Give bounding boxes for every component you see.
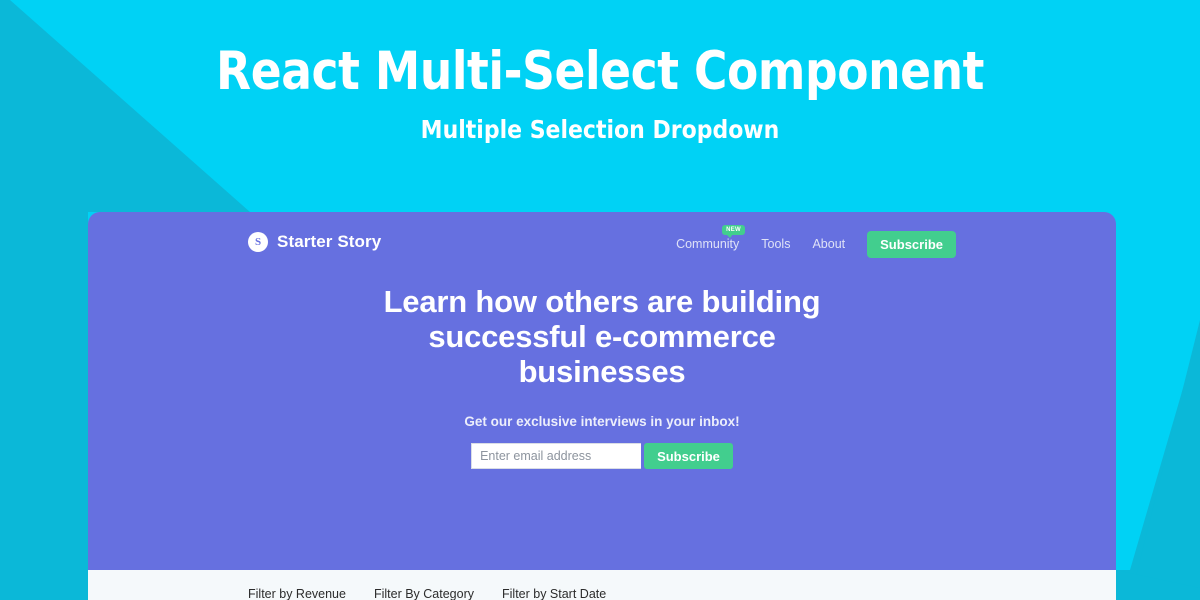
filter-label-category[interactable]: Filter By Category (374, 587, 474, 600)
hero-headline: Learn how others are building successful… (342, 284, 862, 389)
newsletter-form: Subscribe (88, 443, 1116, 469)
nav-subscribe-button[interactable]: Subscribe (867, 231, 956, 258)
new-badge: NEW (722, 225, 745, 235)
starter-story-logo-icon: S (248, 232, 268, 252)
hero-card: S Starter Story Community NEW Tools Abou… (88, 212, 1116, 570)
newsletter-subscribe-button[interactable]: Subscribe (644, 443, 733, 469)
brand-name: Starter Story (277, 232, 381, 252)
page-banner: React Multi-Select Component Multiple Se… (0, 0, 1200, 212)
nav-item-tools[interactable]: Tools (761, 237, 790, 251)
nav-item-community[interactable]: Community NEW (676, 237, 739, 251)
brand[interactable]: S Starter Story (248, 232, 381, 252)
nav-links: Community NEW Tools About Subscribe (676, 231, 956, 258)
filters-panel: Filter by Revenue Filter By Category Fil… (88, 570, 1116, 600)
nav-item-community-label: Community (676, 237, 739, 251)
filters-row: Filter by Revenue Filter By Category Fil… (88, 570, 1116, 600)
nav-item-about[interactable]: About (812, 237, 845, 251)
filter-label-revenue[interactable]: Filter by Revenue (248, 587, 346, 600)
filter-label-start-date[interactable]: Filter by Start Date (502, 587, 606, 600)
page-subtitle: Multiple Selection Dropdown (72, 117, 1128, 142)
site-navbar: S Starter Story Community NEW Tools Abou… (88, 212, 1116, 272)
hero-tagline: Get our exclusive interviews in your inb… (88, 414, 1116, 429)
page-title: React Multi-Select Component (84, 45, 1116, 98)
email-input[interactable] (471, 443, 641, 469)
